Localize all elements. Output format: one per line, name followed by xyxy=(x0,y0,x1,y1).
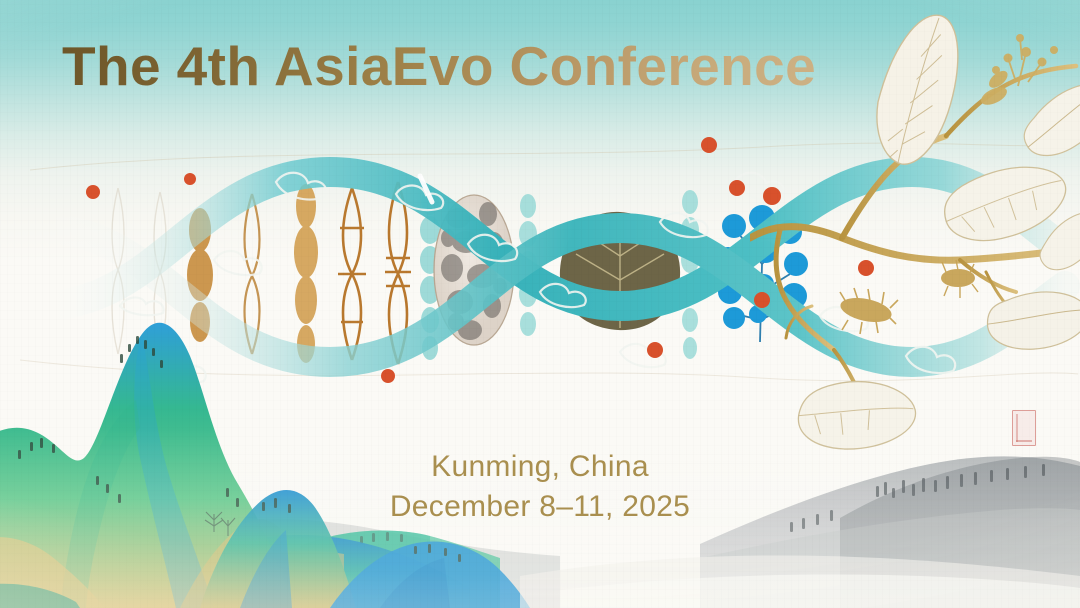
poster-footer: Kunming, China December 8–11, 2025 xyxy=(0,448,1080,527)
poster-location: Kunming, China xyxy=(431,450,649,483)
red-artist-seal xyxy=(1012,410,1036,446)
conference-poster: The 4th AsiaEvo Conference Kunming, Chin… xyxy=(0,0,1080,608)
poster-title: The 4th AsiaEvo Conference xyxy=(62,34,816,98)
seal-glyph xyxy=(1016,414,1032,442)
poster-dates: December 8–11, 2025 xyxy=(0,488,1080,526)
